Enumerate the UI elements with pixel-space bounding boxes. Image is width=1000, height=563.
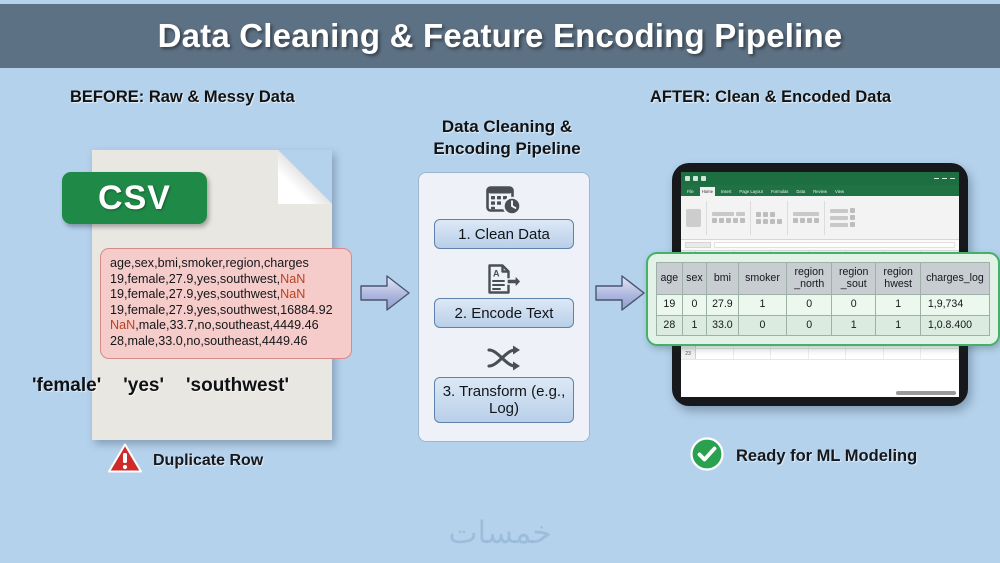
csv-badge-label: CSV xyxy=(98,179,171,218)
cell-region-hwest: 1 xyxy=(876,295,920,316)
pipeline-title-line2: Encoding Pipeline xyxy=(412,138,602,160)
ribbon-tab-file[interactable]: File xyxy=(685,187,696,196)
paste-icon[interactable] xyxy=(686,209,701,227)
excel-redo-icon[interactable] xyxy=(701,176,706,181)
sort-filter-icon[interactable] xyxy=(850,215,855,220)
fill-color-icon[interactable] xyxy=(733,218,738,223)
cell-region-sout: 1 xyxy=(832,315,876,336)
csv-file-badge: CSV xyxy=(62,172,207,224)
table-header-row: age sex bmi smoker region _north region … xyxy=(657,263,990,295)
pipeline-step-transform: 3. Transform (e.g., Log) xyxy=(419,339,589,423)
column-header-region-north: region _north xyxy=(787,263,832,295)
watermark: خمسات xyxy=(0,515,1000,551)
name-box[interactable] xyxy=(685,242,711,248)
column-header-charges-log: charges_log xyxy=(920,263,989,295)
column-header-sex: sex xyxy=(682,263,707,295)
grid-row[interactable]: 23 xyxy=(681,349,959,360)
ribbon-group-clipboard[interactable] xyxy=(686,201,707,235)
quoted-values-row: 'female' 'yes' 'southwest' xyxy=(32,375,332,397)
ribbon-group-font[interactable] xyxy=(712,201,751,235)
cell-region-north: 0 xyxy=(787,295,832,316)
ribbon-tab-view[interactable]: View xyxy=(833,187,846,196)
quoted-value: 'southwest' xyxy=(186,375,289,397)
before-section-heading: BEFORE: Raw & Messy Data xyxy=(70,88,295,107)
cell-region-north: 0 xyxy=(787,315,832,336)
ready-for-ml-label: Ready for ML Modeling xyxy=(736,447,917,466)
ribbon-tab-insert[interactable]: Insert xyxy=(719,187,733,196)
italic-icon[interactable] xyxy=(719,218,724,223)
quoted-value: 'yes' xyxy=(123,375,164,397)
cell-styles-button[interactable] xyxy=(830,223,848,227)
decimal-icon[interactable] xyxy=(814,218,819,223)
align-right-icon[interactable] xyxy=(770,219,775,224)
grid-cell[interactable] xyxy=(809,349,847,359)
svg-text:A: A xyxy=(493,269,500,279)
infographic-canvas: Data Cleaning & Feature Encoding Pipelin… xyxy=(0,0,1000,563)
calendar-clock-icon xyxy=(486,181,522,219)
font-color-icon[interactable] xyxy=(740,218,745,223)
ribbon-tab-formulas[interactable]: Formulas xyxy=(769,187,790,196)
cell-charges-log: 1,0.8.400 xyxy=(920,315,989,336)
grid-cell[interactable] xyxy=(771,349,809,359)
after-section-heading: AFTER: Clean & Encoded Data xyxy=(650,88,891,107)
document-arrow-icon: A xyxy=(486,260,522,298)
csv-row: 19,female,27.9,yes,southwest,NaN xyxy=(110,287,342,303)
pipeline-step-3-button[interactable]: 3. Transform (e.g., Log) xyxy=(434,377,574,423)
column-header-bmi: bmi xyxy=(707,263,738,295)
cell-smoker: 1 xyxy=(738,295,787,316)
align-bottom-icon[interactable] xyxy=(770,212,775,217)
cell-bmi: 33.0 xyxy=(707,315,738,336)
pipeline-step-2-button[interactable]: 2. Encode Text xyxy=(434,298,574,328)
ready-for-ml-badge: Ready for ML Modeling xyxy=(690,437,917,476)
csv-row: 19,female,27.9,yes,southwest,16884.92 xyxy=(110,303,342,319)
maximize-icon[interactable] xyxy=(942,178,947,180)
formula-input[interactable] xyxy=(714,242,955,248)
shuffle-icon xyxy=(485,339,523,377)
column-header-region-hwest: region hwest xyxy=(876,263,920,295)
title-bar: Data Cleaning & Feature Encoding Pipelin… xyxy=(0,4,1000,68)
table-row: 19 0 27.9 1 0 0 1 1,9,734 xyxy=(657,295,990,316)
pipeline-step-1-button[interactable]: 1. Clean Data xyxy=(434,219,574,249)
excel-formula-bar xyxy=(681,240,959,251)
page-fold-corner xyxy=(278,150,332,204)
check-circle-icon xyxy=(690,437,724,476)
ribbon-group-styles[interactable] xyxy=(830,201,860,235)
duplicate-row-label: Duplicate Row xyxy=(153,452,263,470)
align-top-icon[interactable] xyxy=(756,212,761,217)
font-name-box[interactable] xyxy=(712,212,734,216)
cell-sex: 0 xyxy=(682,295,707,316)
ribbon-group-number[interactable] xyxy=(793,201,825,235)
clean-encoded-table-panel: age sex bmi smoker region _north region … xyxy=(646,252,1000,346)
warning-triangle-icon xyxy=(108,443,142,478)
excel-ribbon xyxy=(681,196,959,240)
csv-row: 28,male,33.0,no,southeast,4449.46 xyxy=(110,334,342,350)
pipeline-title: Data Cleaning & Encoding Pipeline xyxy=(412,116,602,160)
ribbon-group-alignment[interactable] xyxy=(756,201,788,235)
pipeline-title-line1: Data Cleaning & xyxy=(412,116,602,138)
csv-raw-data-box: age,sex,bmi,smoker,region,charges 19,fem… xyxy=(100,248,352,359)
pipeline-step-encode-text: A 2. Encode Text xyxy=(419,260,589,328)
cell-age: 28 xyxy=(657,315,683,336)
cell-bmi: 27.9 xyxy=(707,295,738,316)
cell-region-sout: 0 xyxy=(832,295,876,316)
ribbon-tab-home[interactable]: Home xyxy=(700,187,715,196)
grid-cell[interactable] xyxy=(884,349,922,359)
grid-cell[interactable] xyxy=(734,349,772,359)
column-header-age: age xyxy=(657,263,683,295)
excel-save-icon[interactable] xyxy=(685,176,690,181)
arrow-right-icon xyxy=(359,272,411,314)
comma-icon[interactable] xyxy=(807,218,812,223)
clean-encoded-table: age sex bmi smoker region _north region … xyxy=(656,262,990,336)
excel-undo-icon[interactable] xyxy=(693,176,698,181)
cell-smoker: 0 xyxy=(738,315,787,336)
horizontal-scrollbar[interactable] xyxy=(896,391,956,395)
ribbon-tab-review[interactable]: Review xyxy=(811,187,829,196)
format-as-table-button[interactable] xyxy=(830,216,848,220)
row-header[interactable]: 23 xyxy=(681,349,696,359)
ribbon-tab-page-layout[interactable]: Page Layout xyxy=(737,187,765,196)
grid-cell[interactable] xyxy=(921,349,959,359)
csv-row: 19,female,27.9,yes,southwest,NaN xyxy=(110,272,342,288)
align-center-icon[interactable] xyxy=(763,219,768,224)
csv-row: NaN,male,33.7,no,southeast,4449.46 xyxy=(110,318,342,334)
page-title: Data Cleaning & Feature Encoding Pipelin… xyxy=(158,17,843,55)
underline-icon[interactable] xyxy=(726,218,731,223)
duplicate-row-warning: Duplicate Row xyxy=(108,443,263,478)
table-row: 28 1 33.0 0 0 1 1 1,0.8.400 xyxy=(657,315,990,336)
merge-cells-icon[interactable] xyxy=(777,219,782,224)
excel-titlebar xyxy=(681,172,959,185)
arrow-right-icon xyxy=(594,272,646,314)
cell-charges-log: 1,9,734 xyxy=(920,295,989,316)
currency-icon[interactable] xyxy=(793,218,798,223)
ribbon-tab-data[interactable]: Data xyxy=(794,187,807,196)
bold-icon[interactable] xyxy=(712,218,717,223)
pipeline-container: 1. Clean Data A 2. Encode Text xyxy=(418,172,590,442)
conditional-formatting-button[interactable] xyxy=(830,209,848,213)
pipeline-step-clean-data: 1. Clean Data xyxy=(419,181,589,249)
quoted-value: 'female' xyxy=(32,375,101,397)
align-left-icon[interactable] xyxy=(756,219,761,224)
align-middle-icon[interactable] xyxy=(763,212,768,217)
grid-cell[interactable] xyxy=(696,349,734,359)
number-format-select[interactable] xyxy=(793,212,819,216)
font-size-box[interactable] xyxy=(736,212,745,216)
autosum-icon[interactable] xyxy=(850,208,855,213)
cell-age: 19 xyxy=(657,295,683,316)
grid-cell[interactable] xyxy=(846,349,884,359)
column-header-smoker: smoker xyxy=(738,263,787,295)
percent-icon[interactable] xyxy=(800,218,805,223)
find-select-icon[interactable] xyxy=(850,222,855,227)
column-header-region-sout: region _sout xyxy=(832,263,876,295)
close-icon[interactable] xyxy=(950,178,955,180)
cell-region-hwest: 1 xyxy=(876,315,920,336)
csv-row: age,sex,bmi,smoker,region,charges xyxy=(110,256,342,272)
excel-ribbon-tabs: File Home Insert Page Layout Formulas Da… xyxy=(681,185,959,196)
minimize-icon[interactable] xyxy=(934,178,939,180)
cell-sex: 1 xyxy=(682,315,707,336)
